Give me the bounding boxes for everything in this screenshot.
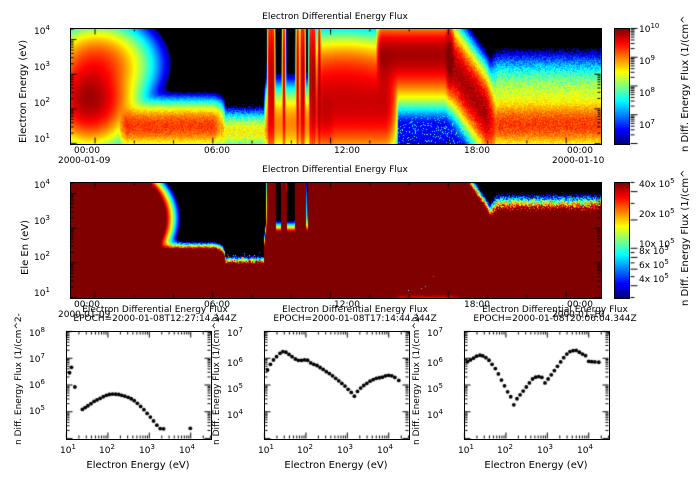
ytick-label: 10 xyxy=(34,63,45,73)
xtick-label: 10 xyxy=(497,446,508,456)
ytick-exp: 4 xyxy=(45,178,49,186)
ytick-exp: 3 xyxy=(45,60,49,68)
cb-tick-exp: 7 xyxy=(650,118,654,126)
spectrum-middle-subtitle: EPOCH=2000-01-08T17:14:44.344Z xyxy=(245,314,465,324)
spectrogram-top-colorbar[interactable] xyxy=(614,28,630,145)
xtick-label: 10 xyxy=(537,446,548,456)
cb-tick-exp: 5 xyxy=(664,258,668,266)
ytick-exp: 4 xyxy=(238,408,242,416)
xtick-label: 10 xyxy=(179,446,190,456)
spectrogram-top-title: Electron Differential Energy Flux xyxy=(70,12,600,22)
ytick-label: 10 xyxy=(29,355,40,365)
cb-tick-exp: 5 xyxy=(670,177,674,185)
spectrum-left-xlabel: Electron Energy (eV) xyxy=(66,460,210,471)
xtick-label: 10 xyxy=(99,446,110,456)
ytick-exp: 6 xyxy=(438,356,442,364)
spectrogram-top-axis-ticks xyxy=(63,27,608,162)
xtick-exp: 4 xyxy=(588,443,592,451)
spectrogram-middle-colorbar[interactable] xyxy=(614,182,630,299)
ytick-exp: 7 xyxy=(238,326,242,334)
xtick-label: 10 xyxy=(458,446,469,456)
xtick-exp: 1 xyxy=(269,443,273,451)
spectrum-middle-xlabel: Electron Energy (eV) xyxy=(264,460,408,471)
xtick-label: 10 xyxy=(377,446,388,456)
xtick-exp: 2 xyxy=(308,443,312,451)
spectrogram-middle-ylabel: Ele En (eV) xyxy=(20,220,31,275)
cb-tick-exp: 5 xyxy=(664,244,668,252)
xtick-exp: 2 xyxy=(110,443,114,451)
cb-tick-label: 20x 10 xyxy=(639,210,670,220)
spectrogram-middle-axis-ticks xyxy=(63,181,608,316)
ytick-label: 10 xyxy=(29,407,40,417)
xtick-label: 10 xyxy=(139,446,150,456)
cb-tick-label: 6x 10 xyxy=(639,261,664,271)
xtick-label: 10 xyxy=(577,446,588,456)
cb-tick-label: 10 xyxy=(639,25,650,35)
xtick-label: 10 xyxy=(337,446,348,456)
cb-tick-exp: 5 xyxy=(670,237,674,245)
ytick-label: 10 xyxy=(29,329,40,339)
ytick-label: 10 xyxy=(227,411,238,421)
ytick-label: 10 xyxy=(34,289,45,299)
xtick-label: 10 xyxy=(258,446,269,456)
cb-tick-label: 10 xyxy=(639,121,650,131)
xtick-exp: 3 xyxy=(348,443,352,451)
ytick-exp: 1 xyxy=(45,286,49,294)
ytick-label: 10 xyxy=(227,329,238,339)
spectrogram-top-xtick-2: 12:00 xyxy=(334,146,360,156)
cb-tick-label: 40x 10 xyxy=(639,180,670,190)
ytick-exp: 6 xyxy=(238,356,242,364)
ytick-label: 10 xyxy=(34,99,45,109)
ytick-exp: 4 xyxy=(438,408,442,416)
cb-tick-exp: 9 xyxy=(650,54,654,62)
ytick-label: 10 xyxy=(227,359,238,369)
spectrogram-top-xtick-0: 00:00 xyxy=(74,146,100,156)
spectrum-left-axis-ticks xyxy=(59,330,219,455)
xtick-exp: 4 xyxy=(388,443,392,451)
spectrogram-top-xtick-3: 18:00 xyxy=(464,146,490,156)
ytick-exp: 5 xyxy=(238,382,242,390)
ytick-exp: 1 xyxy=(45,132,49,140)
ytick-exp: 6 xyxy=(40,378,44,386)
xtick-label: 10 xyxy=(297,446,308,456)
xtick-exp: 2 xyxy=(508,443,512,451)
spectrum-left-ylabel: n Diff. Energy Flux (1/(cm^2- xyxy=(14,313,24,445)
cb-tick-exp: 8 xyxy=(650,86,654,94)
ytick-label: 10 xyxy=(34,253,45,263)
xtick-exp: 1 xyxy=(469,443,473,451)
spectrum-left-subtitle: EPOCH=2000-01-08T12:27:14.344Z xyxy=(45,314,265,324)
ytick-label: 10 xyxy=(427,411,438,421)
spectrum-middle-ylabel: n Diff. Energy Flux (1/(cm^2- xyxy=(212,313,222,445)
ytick-label: 10 xyxy=(427,385,438,395)
cb-tick-label: 10 xyxy=(639,57,650,67)
spectrogram-top-ylabel: Electron Energy (eV) xyxy=(18,40,29,143)
spectrogram-middle-title: Electron Differential Energy Flux xyxy=(70,165,600,175)
ytick-label: 10 xyxy=(29,381,40,391)
xtick-exp: 3 xyxy=(548,443,552,451)
ytick-label: 10 xyxy=(34,217,45,227)
ytick-label: 10 xyxy=(227,385,238,395)
cb-tick-exp: 5 xyxy=(664,272,668,280)
spectrum-middle-axis-ticks xyxy=(257,330,417,455)
ytick-exp: 5 xyxy=(40,404,44,412)
xtick-exp: 3 xyxy=(150,443,154,451)
ytick-label: 10 xyxy=(34,135,45,145)
ytick-label: 10 xyxy=(34,27,45,37)
spectrogram-top-colorbar-label: n Diff. Energy Flux (1/(cm^ xyxy=(680,15,691,152)
ytick-exp: 8 xyxy=(40,326,44,334)
ytick-label: 10 xyxy=(34,181,45,191)
cb-tick-exp: 10 xyxy=(650,22,659,30)
spectrum-right-ylabel: n Diff. Energy Flux (1/(cm^2- xyxy=(412,313,422,445)
xtick-label: 10 xyxy=(60,446,71,456)
xtick-exp: 4 xyxy=(190,443,194,451)
spectrogram-middle-colorbar-label: n Diff. Energy Flux (1/(cm^ xyxy=(680,169,691,306)
spectrum-right-xlabel: Electron Energy (eV) xyxy=(464,460,608,471)
ytick-exp: 5 xyxy=(438,382,442,390)
cb-tick-label: 8x 10 xyxy=(639,247,664,257)
ytick-exp: 3 xyxy=(45,214,49,222)
cb-tick-exp: 5 xyxy=(670,207,674,215)
cb-tick-label: 10 xyxy=(639,89,650,99)
ytick-exp: 4 xyxy=(45,24,49,32)
ytick-exp: 2 xyxy=(45,250,49,258)
cb-tick-label: 4x 10 xyxy=(639,275,664,285)
spectrogram-top-xtick-4: 00:00 xyxy=(567,146,593,156)
ytick-label: 10 xyxy=(427,359,438,369)
ytick-exp: 7 xyxy=(438,326,442,334)
spectrogram-top-xtick-1: 06:00 xyxy=(204,146,230,156)
ytick-exp: 2 xyxy=(45,96,49,104)
ytick-exp: 7 xyxy=(40,352,44,360)
spectrum-right-subtitle: EPOCH=2000-01-08T20:06:04.344Z xyxy=(445,314,665,324)
xtick-exp: 1 xyxy=(71,443,75,451)
ytick-label: 10 xyxy=(427,329,438,339)
spectrum-right-axis-ticks xyxy=(457,330,617,455)
